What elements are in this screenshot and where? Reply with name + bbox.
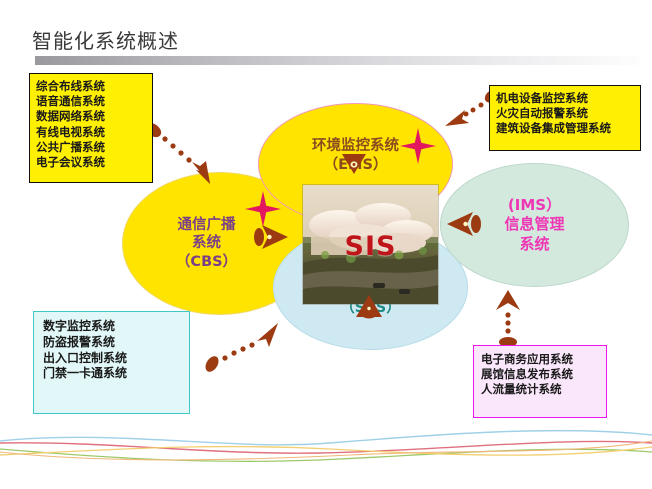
callout-box-sps[interactable]: 数字监控系统 防盗报警系统 出入口控制系统 门禁一卡通系统 [33, 311, 190, 414]
callout-line: 有线电视系统 [36, 125, 152, 140]
marker-ems-down-icon [337, 150, 371, 184]
star-ems-icon [398, 126, 438, 166]
callout-line: 数字监控系统 [43, 319, 189, 335]
title-divider [35, 56, 640, 65]
callout-line: 数据网络系统 [36, 109, 152, 124]
callout-box-ems[interactable]: 机电设备监控系统 火灾自动报警系统 建筑设备集成管理系统 [489, 85, 641, 151]
callout-box-ims[interactable]: 电子商务应用系统 展馆信息发布系统 人流量统计系统 [473, 345, 607, 418]
callout-line: 公共广播系统 [36, 140, 152, 155]
marker-sps-up-icon [352, 292, 386, 328]
ellipse-cbs-abbr: （CBS） [176, 253, 237, 272]
building-photo: SIS [303, 185, 438, 304]
callout-line: 综合布线系统 [36, 79, 152, 94]
callout-line: 门禁一卡通系统 [43, 366, 189, 382]
ellipse-ims-line1: 信息管理 [504, 215, 564, 234]
sis-overlay-label: SIS [303, 231, 438, 262]
callout-line: 机电设备监控系统 [496, 91, 640, 106]
ellipse-ims-abbr: (IMS） [508, 196, 561, 215]
marker-ims-left-icon [443, 209, 487, 239]
callout-line: 语音通信系统 [36, 94, 152, 109]
ellipse-cbs-line2: 系统 [192, 234, 221, 253]
callout-line: 出入口控制系统 [43, 351, 189, 367]
slide-canvas: 智能化系统概述 通信广播 系统 （CBS） 安防防范系统 （SPS） (IMS）… [0, 0, 652, 489]
callout-line: 电子会议系统 [36, 155, 152, 170]
callout-box-cbs[interactable]: 综合布线系统 语音通信系统 数据网络系统 有线电视系统 公共广播系统 电子会议系… [29, 73, 153, 183]
arrow-cbs-box-to-ellipse [140, 118, 230, 190]
callout-line: 电子商务应用系统 [481, 352, 606, 367]
callout-line: 人流量统计系统 [481, 382, 606, 397]
marker-cbs-right-icon [248, 222, 292, 252]
ellipse-ims-line2: 系统 [519, 235, 549, 254]
decorative-waves [0, 419, 652, 489]
callout-line: 防盗报警系统 [43, 335, 189, 351]
page-title: 智能化系统概述 [32, 25, 179, 54]
ellipse-cbs-line1: 通信广播 [178, 216, 236, 235]
arrow-ims-box-to-ellipse [490, 288, 526, 350]
callout-line: 建筑设备集成管理系统 [496, 121, 640, 136]
callout-line: 火灾自动报警系统 [496, 106, 640, 121]
callout-line: 展馆信息发布系统 [481, 367, 606, 382]
arrow-sps-box-to-ellipse [200, 317, 292, 377]
